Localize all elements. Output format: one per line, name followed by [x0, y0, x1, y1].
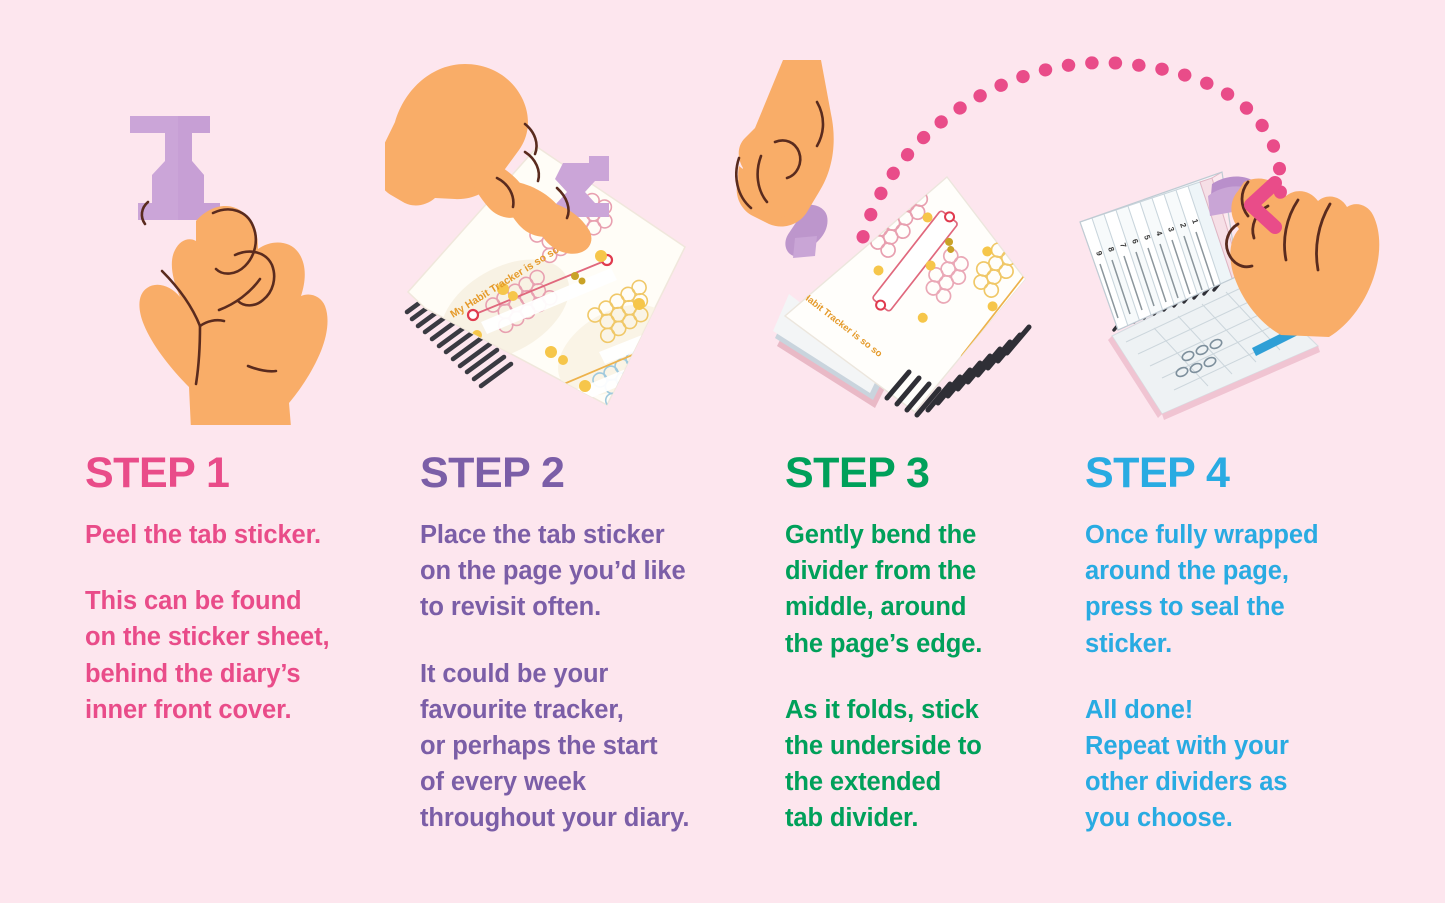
spiral-binding [887, 327, 1029, 415]
step-1-heading: STEP 1 [85, 452, 395, 495]
hand-shape [736, 60, 833, 227]
page-number: 9 [1094, 250, 1104, 258]
step-4-heading: STEP 4 [1085, 452, 1385, 495]
step-2-paragraph-1: Place the tab stickeron the page you’d l… [420, 517, 750, 626]
habit-tracker-page: My Habit Tracker is so so [781, 142, 1055, 425]
page-number: 7 [1118, 242, 1128, 250]
tab-sticker-icon [1208, 177, 1252, 216]
habit-tracker-page: My Habit Tracker is so so [408, 147, 691, 416]
numbered-page-fan: 10 9 8 7 6 5 4 3 2 1 [1080, 172, 1252, 330]
step-2-heading: STEP 2 [420, 452, 750, 495]
under-pages [773, 294, 890, 408]
hand-placing-sticker-illustration: My Habit Tracker is so so [385, 60, 705, 425]
step-1-paragraph-2: This can be foundon the sticker sheet,be… [85, 583, 395, 728]
page-title-text: My Habit Tracker is so so [448, 244, 561, 321]
step-2-paragraph-2: It could be yourfavourite tracker,or per… [420, 656, 750, 837]
step-1-paragraph-1: Peel the tab sticker. [85, 517, 395, 553]
tab-sticker-icon [555, 156, 609, 217]
hand-pressing-sticker-illustration: 10 9 8 7 6 5 4 3 2 1 [1062, 160, 1402, 425]
arrowhead-icon [1251, 183, 1275, 227]
page-title-text: My Habit Tracker is so so [787, 281, 884, 360]
page-number: 1 [1190, 218, 1200, 226]
step-3-heading: STEP 3 [785, 452, 1047, 495]
tab-sticker-icon [785, 205, 827, 258]
illustration-band: My Habit Tracker is so so [0, 0, 1445, 445]
step-4-paragraph-1: Once fully wrappedaround the page,press … [1085, 517, 1385, 662]
page-number: 8 [1106, 246, 1116, 254]
step-4-column: STEP 4 Once fully wrappedaround the page… [1085, 452, 1385, 837]
spiral-binding [407, 290, 511, 386]
tab-sticker-icon [130, 116, 220, 220]
page-number: 2 [1178, 222, 1188, 230]
diary-base-page [1108, 272, 1320, 420]
hand-shape [139, 202, 327, 425]
spiral-binding [1114, 280, 1222, 330]
step-1-column: STEP 1 Peel the tab sticker. This can be… [85, 452, 395, 728]
hand-shape [385, 64, 591, 254]
step-3-paragraph-2: As it folds, stickthe underside tothe ex… [785, 692, 1047, 837]
page-number: 10 [1082, 254, 1093, 266]
hand-holding-tab-sticker-illustration [100, 85, 350, 425]
page-number: 5 [1142, 234, 1152, 242]
hand-shape [1226, 178, 1379, 337]
step-3-column: STEP 3 Gently bend thedivider from themi… [785, 452, 1047, 837]
step-2-column: STEP 2 Place the tab stickeron the page … [420, 452, 750, 837]
dotted-arc-arrow [855, 55, 1315, 255]
page-number: 4 [1154, 230, 1164, 238]
step-4-paragraph-2: All done!Repeat with yourother dividers … [1085, 692, 1385, 837]
page-number: 6 [1130, 238, 1140, 246]
hand-bending-divider-illustration: My Habit Tracker is so so [735, 60, 1055, 425]
step-3-paragraph-1: Gently bend thedivider from themiddle, a… [785, 517, 1047, 662]
page-number: 3 [1166, 226, 1176, 234]
instruction-graphic: My Habit Tracker is so so [0, 0, 1445, 903]
